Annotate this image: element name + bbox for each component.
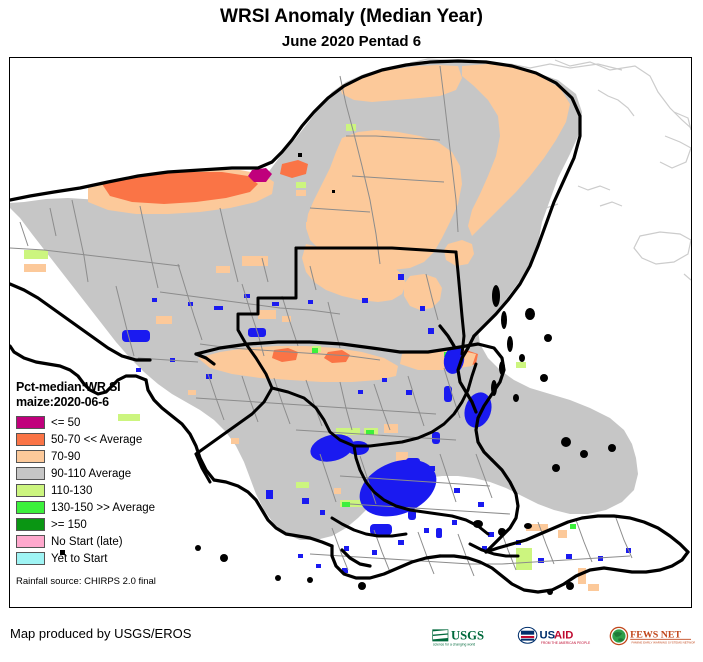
map-page: WRSI Anomaly (Median Year) June 2020 Pen… bbox=[0, 0, 703, 662]
usgs-logo: USGS science for a changing world bbox=[431, 621, 511, 651]
svg-text:FAMINE EARLY WARNING SYSTEMS N: FAMINE EARLY WARNING SYSTEMS NETWORK bbox=[631, 640, 695, 644]
legend-swatch bbox=[16, 484, 45, 497]
legend-swatch bbox=[16, 501, 45, 514]
svg-text:US: US bbox=[539, 630, 555, 642]
legend-row: 50-70 << Average bbox=[16, 431, 208, 448]
page-subtitle: June 2020 Pentad 6 bbox=[0, 33, 703, 50]
agency-logos: USGS science for a changing world US AID… bbox=[431, 620, 695, 652]
legend-label: 90-110 Average bbox=[51, 468, 131, 480]
svg-text:FEWS NET: FEWS NET bbox=[630, 629, 681, 640]
legend-title-line1: Pct-median:WR SI bbox=[16, 380, 208, 395]
legend-swatch bbox=[16, 433, 45, 446]
svg-text:FROM THE AMERICAN PEOPLE: FROM THE AMERICAN PEOPLE bbox=[541, 641, 591, 645]
legend-label: Yet to Start bbox=[51, 553, 107, 565]
legend-rows: <= 5050-70 << Average70-9090-110 Average… bbox=[16, 414, 208, 567]
legend-row: 110-130 bbox=[16, 482, 208, 499]
legend-swatch bbox=[16, 467, 45, 480]
legend-label: <= 50 bbox=[51, 417, 80, 429]
legend-row: Yet to Start bbox=[16, 550, 208, 567]
legend-swatch bbox=[16, 518, 45, 531]
legend-row: 130-150 >> Average bbox=[16, 499, 208, 516]
legend-label: >= 150 bbox=[51, 519, 87, 531]
svg-text:USGS: USGS bbox=[451, 628, 484, 642]
legend-swatch bbox=[16, 450, 45, 463]
usaid-logo: US AID FROM THE AMERICAN PEOPLE bbox=[517, 621, 603, 651]
legend-source: Rainfall source: CHIRPS 2.0 final bbox=[16, 576, 208, 587]
legend-row: <= 50 bbox=[16, 414, 208, 431]
map-credit: Map produced by USGS/EROS bbox=[10, 626, 191, 641]
legend-swatch bbox=[16, 552, 45, 565]
legend-row: >= 150 bbox=[16, 516, 208, 533]
legend-label: No Start (late) bbox=[51, 536, 123, 548]
svg-text:AID: AID bbox=[554, 630, 573, 642]
legend-row: 70-90 bbox=[16, 448, 208, 465]
legend-swatch bbox=[16, 416, 45, 429]
legend: Pct-median:WR SI maize:2020-06-6 <= 5050… bbox=[16, 380, 208, 587]
legend-label: 70-90 bbox=[51, 451, 80, 463]
legend-row: No Start (late) bbox=[16, 533, 208, 550]
legend-label: 130-150 >> Average bbox=[51, 502, 155, 514]
page-title: WRSI Anomaly (Median Year) bbox=[0, 6, 703, 28]
legend-row: 90-110 Average bbox=[16, 465, 208, 482]
svg-text:science for a changing world: science for a changing world bbox=[433, 642, 475, 646]
legend-label: 110-130 bbox=[51, 485, 92, 497]
fewsnet-logo: FEWS NET FAMINE EARLY WARNING SYSTEMS NE… bbox=[609, 621, 695, 651]
legend-title-line2: maize:2020-06-6 bbox=[16, 395, 208, 410]
legend-label: 50-70 << Average bbox=[51, 434, 142, 446]
legend-swatch bbox=[16, 535, 45, 548]
